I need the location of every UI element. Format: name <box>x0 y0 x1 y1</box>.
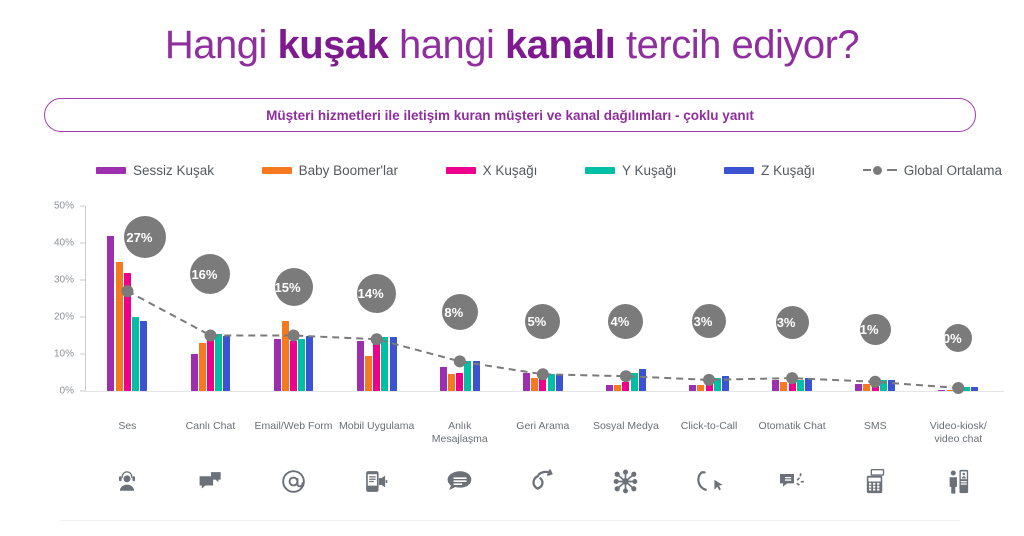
y-axis-tick-label: 10% <box>54 349 74 360</box>
bottom-divider <box>60 520 960 521</box>
legend-label: Global Ortalama <box>904 163 1002 178</box>
average-point-marker[interactable] <box>620 370 632 382</box>
y-axis-tick-label: 30% <box>54 275 74 286</box>
legend-swatch <box>446 167 476 174</box>
subtitle-pill: Müşteri hizmetleri ile iletişim kuran mü… <box>44 98 976 132</box>
average-point-marker[interactable] <box>703 374 715 386</box>
legend-label: X Kuşağı <box>483 163 538 178</box>
legend-swatch <box>262 167 292 174</box>
legend-item-3[interactable]: X Kuşağı <box>446 163 538 178</box>
page-title: Hangi kuşak hangi kanalı tercih ediyor? <box>0 22 1024 68</box>
title-bold-kusak: kuşak <box>277 23 388 67</box>
agent-headset-icon <box>104 458 150 504</box>
title-bold-kanali: kanalı <box>505 23 615 67</box>
average-point-marker[interactable] <box>288 330 300 342</box>
legend-swatch <box>96 167 126 174</box>
average-point-marker[interactable] <box>121 285 133 297</box>
x-axis-labels: SesCanlı ChatEmail/Web FormMobil Uygulam… <box>90 420 1004 454</box>
average-point-marker[interactable] <box>869 376 881 388</box>
title-part-3: tercih ediyor? <box>615 23 859 67</box>
average-point-marker[interactable] <box>537 368 549 380</box>
message-bubble-icon <box>437 458 483 504</box>
legend-item-6[interactable]: Global Ortalama <box>863 163 1002 178</box>
legend-swatch <box>724 167 754 174</box>
y-axis-tick-label: 50% <box>54 201 74 212</box>
legend-label: Y Kuşağı <box>622 163 677 178</box>
title-part-1: Hangi <box>165 23 278 67</box>
y-axis: 0%10%20%30%40%50% <box>44 206 80 391</box>
x-axis-line <box>85 391 1004 392</box>
legend-swatch <box>585 167 615 174</box>
legend-item-1[interactable]: Sessiz Kuşak <box>96 163 214 178</box>
chatbot-icon <box>769 458 815 504</box>
legend-dashed-line-marker <box>863 166 897 175</box>
at-sign-icon <box>271 458 317 504</box>
legend-item-5[interactable]: Z Kuşağı <box>724 163 815 178</box>
average-point-marker[interactable] <box>454 355 466 367</box>
video-kiosk-icon <box>935 458 981 504</box>
legend-label: Z Kuşağı <box>761 163 815 178</box>
average-point-marker[interactable] <box>786 372 798 384</box>
mobile-app-icon <box>354 458 400 504</box>
live-chat-icon <box>187 458 233 504</box>
callback-phone-icon <box>520 458 566 504</box>
click-to-call-icon <box>686 458 732 504</box>
x-axis-category-label: Video-kiosk/video chat <box>904 420 1013 446</box>
legend-item-2[interactable]: Baby Boomer'lar <box>262 163 398 178</box>
plot-area: 0%10%20%30%40%50% 27%16%15%14%8%5%4%3%3%… <box>44 206 1004 421</box>
y-axis-tick-label: 0% <box>60 386 74 397</box>
legend-label: Baby Boomer'lar <box>299 163 398 178</box>
title-part-2: hangi <box>388 23 505 67</box>
channel-icons-row <box>90 458 1004 506</box>
sms-keypad-icon <box>852 458 898 504</box>
chart-page: Hangi kuşak hangi kanalı tercih ediyor? … <box>0 0 1024 536</box>
legend-label: Sessiz Kuşak <box>133 163 214 178</box>
chart-legend: Sessiz KuşakBaby Boomer'larX KuşağıY Kuş… <box>96 158 1002 182</box>
average-point-marker[interactable] <box>205 330 217 342</box>
average-point-marker[interactable] <box>952 382 964 394</box>
y-axis-tick-label: 20% <box>54 312 74 323</box>
subtitle-text: Müşteri hizmetleri ile iletişim kuran mü… <box>266 108 754 123</box>
average-point-marker[interactable] <box>371 333 383 345</box>
legend-item-4[interactable]: Y Kuşağı <box>585 163 677 178</box>
social-network-icon <box>603 458 649 504</box>
global-average-line <box>90 206 1004 391</box>
y-axis-line <box>85 206 86 391</box>
y-axis-tick-label: 40% <box>54 238 74 249</box>
